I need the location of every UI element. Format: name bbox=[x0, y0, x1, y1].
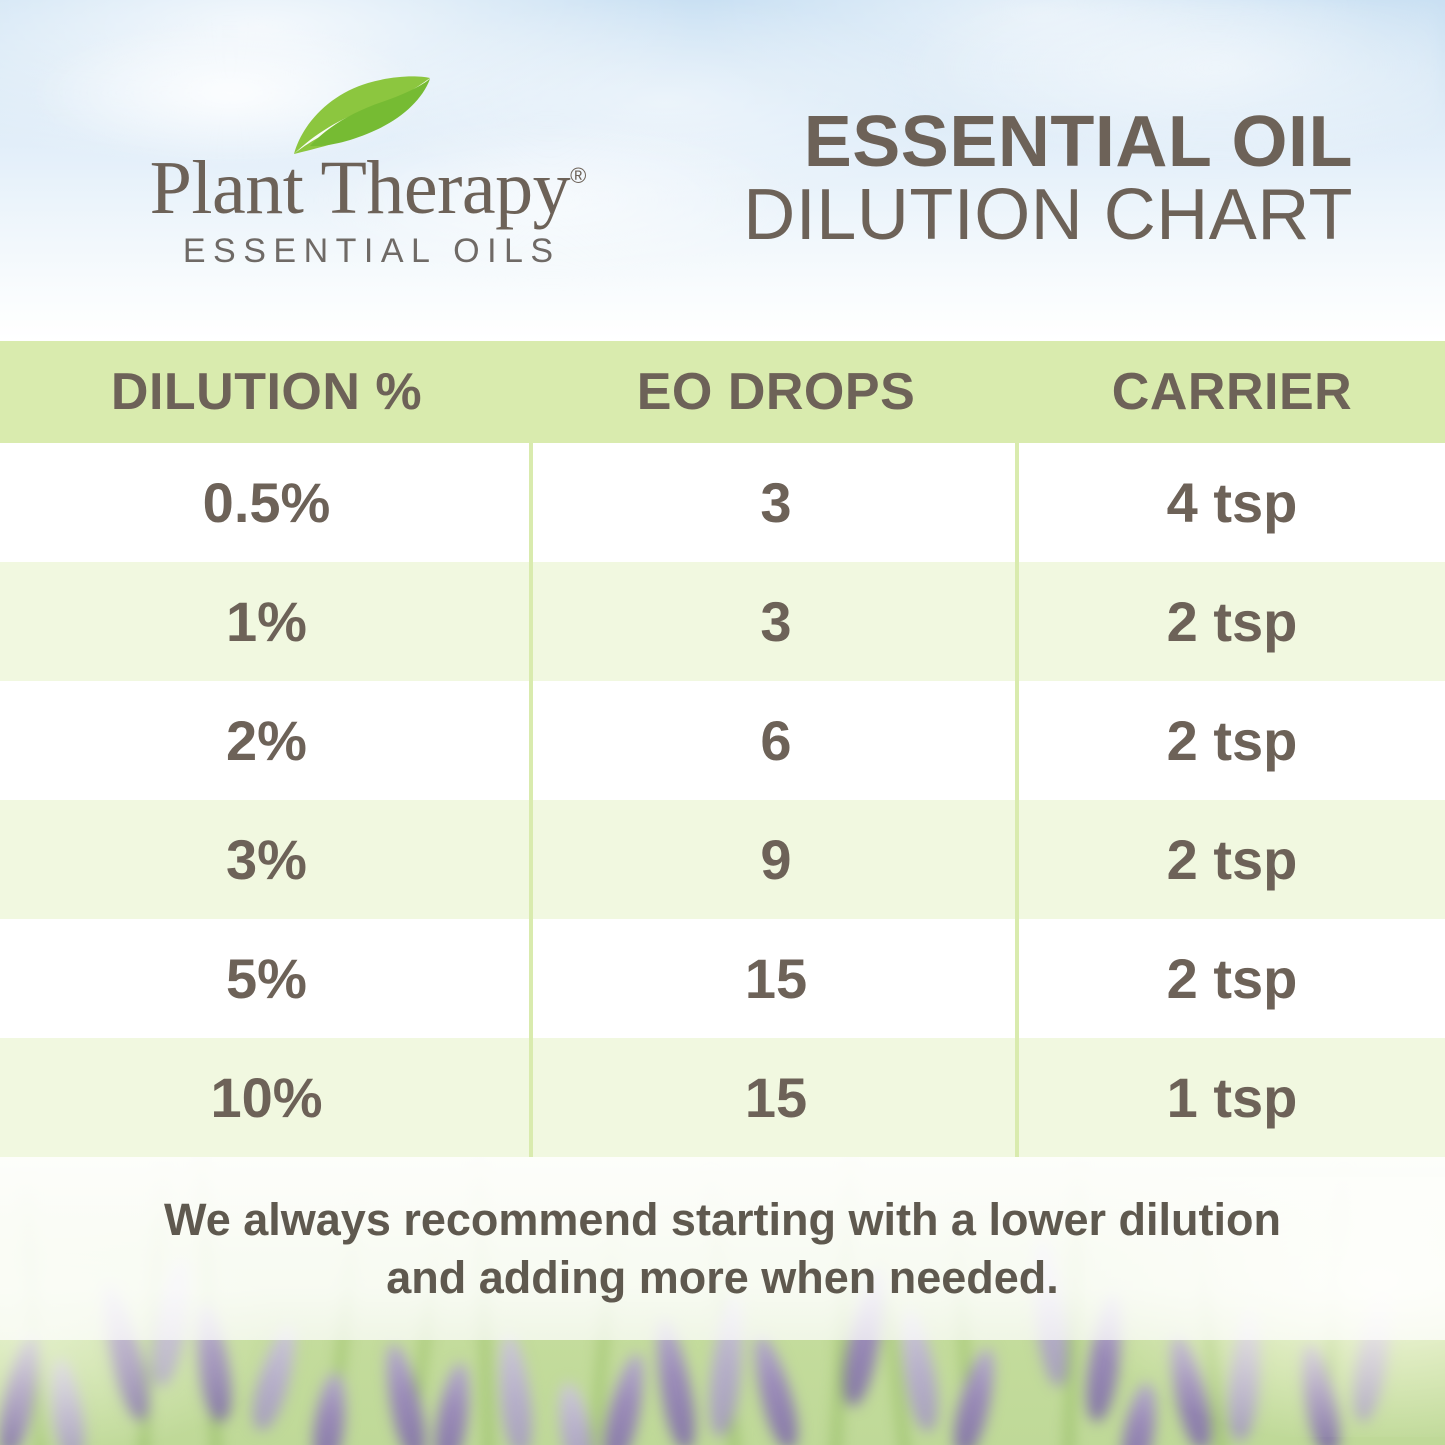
cell-carrier: 2 tsp bbox=[1019, 800, 1445, 919]
column-header-dilution: DILUTION % bbox=[0, 341, 533, 443]
cell-dilution: 5% bbox=[0, 919, 533, 1038]
cell-dilution: 3% bbox=[0, 800, 533, 919]
cell-drops: 9 bbox=[533, 800, 1019, 919]
cell-drops-value: 9 bbox=[760, 827, 791, 892]
table-row: 3% 9 2 tsp bbox=[0, 800, 1445, 919]
cell-dilution: 1% bbox=[0, 562, 533, 681]
cell-drops-value: 3 bbox=[760, 470, 791, 535]
cell-carrier-value: 2 tsp bbox=[1167, 589, 1298, 654]
cell-drops: 6 bbox=[533, 681, 1019, 800]
cell-dilution-value: 10% bbox=[210, 1065, 322, 1130]
page-title-line1: ESSENTIAL OIL bbox=[743, 108, 1353, 177]
table-row: 2% 6 2 tsp bbox=[0, 681, 1445, 800]
cell-carrier-value: 1 tsp bbox=[1167, 1065, 1298, 1130]
cell-dilution: 10% bbox=[0, 1038, 533, 1157]
table-row: 1% 3 2 tsp bbox=[0, 562, 1445, 681]
page-title-line2: DILUTION CHART bbox=[743, 179, 1353, 252]
column-header-eo-drops: EO DROPS bbox=[533, 341, 1019, 443]
footer-note-text: We always recommend starting with a lowe… bbox=[163, 1191, 1283, 1306]
cell-dilution: 0.5% bbox=[0, 443, 533, 562]
registered-trademark-icon: ® bbox=[570, 163, 586, 188]
table-row: 10% 15 1 tsp bbox=[0, 1038, 1445, 1157]
cell-carrier-value: 4 tsp bbox=[1167, 470, 1298, 535]
cell-drops: 3 bbox=[533, 562, 1019, 681]
page-title: ESSENTIAL OIL DILUTION CHART bbox=[743, 108, 1353, 253]
cell-carrier: 2 tsp bbox=[1019, 919, 1445, 1038]
cell-drops-value: 15 bbox=[745, 946, 807, 1011]
cell-drops-value: 6 bbox=[760, 708, 791, 773]
cell-carrier: 2 tsp bbox=[1019, 562, 1445, 681]
cell-dilution-value: 5% bbox=[226, 946, 307, 1011]
column-header-dilution-label: DILUTION % bbox=[111, 362, 422, 422]
table-row: 0.5% 3 4 tsp bbox=[0, 443, 1445, 562]
cell-drops: 15 bbox=[533, 1038, 1019, 1157]
dilution-chart-infographic: Plant Therapy® ESSENTIAL OILS ESSENTIAL … bbox=[0, 0, 1445, 1445]
dilution-table: DILUTION % EO DROPS CARRIER 0.5% 3 4 tsp… bbox=[0, 341, 1445, 1157]
cell-drops: 3 bbox=[533, 443, 1019, 562]
cell-drops: 15 bbox=[533, 919, 1019, 1038]
column-header-carrier: CARRIER bbox=[1019, 341, 1445, 443]
cell-dilution-value: 2% bbox=[226, 708, 307, 773]
cell-dilution-value: 3% bbox=[226, 827, 307, 892]
table-row: 5% 15 2 tsp bbox=[0, 919, 1445, 1038]
cell-dilution-value: 1% bbox=[226, 589, 307, 654]
cell-dilution: 2% bbox=[0, 681, 533, 800]
cell-drops-value: 15 bbox=[745, 1065, 807, 1130]
table-header-row: DILUTION % EO DROPS CARRIER bbox=[0, 341, 1445, 443]
brand-wordmark-text: Plant Therapy bbox=[150, 146, 571, 230]
column-header-carrier-label: CARRIER bbox=[1112, 362, 1352, 422]
brand-wordmark: Plant Therapy® bbox=[88, 150, 648, 226]
cell-carrier-value: 2 tsp bbox=[1167, 827, 1298, 892]
brand-tagline: ESSENTIAL OILS bbox=[88, 234, 648, 268]
column-header-eo-drops-label: EO DROPS bbox=[637, 362, 916, 422]
cell-dilution-value: 0.5% bbox=[203, 470, 331, 535]
cell-carrier: 2 tsp bbox=[1019, 681, 1445, 800]
cell-carrier-value: 2 tsp bbox=[1167, 708, 1298, 773]
cell-carrier-value: 2 tsp bbox=[1167, 946, 1298, 1011]
cell-drops-value: 3 bbox=[760, 589, 791, 654]
cell-carrier: 1 tsp bbox=[1019, 1038, 1445, 1157]
footer-note-band: We always recommend starting with a lowe… bbox=[0, 1157, 1445, 1340]
cell-carrier: 4 tsp bbox=[1019, 443, 1445, 562]
